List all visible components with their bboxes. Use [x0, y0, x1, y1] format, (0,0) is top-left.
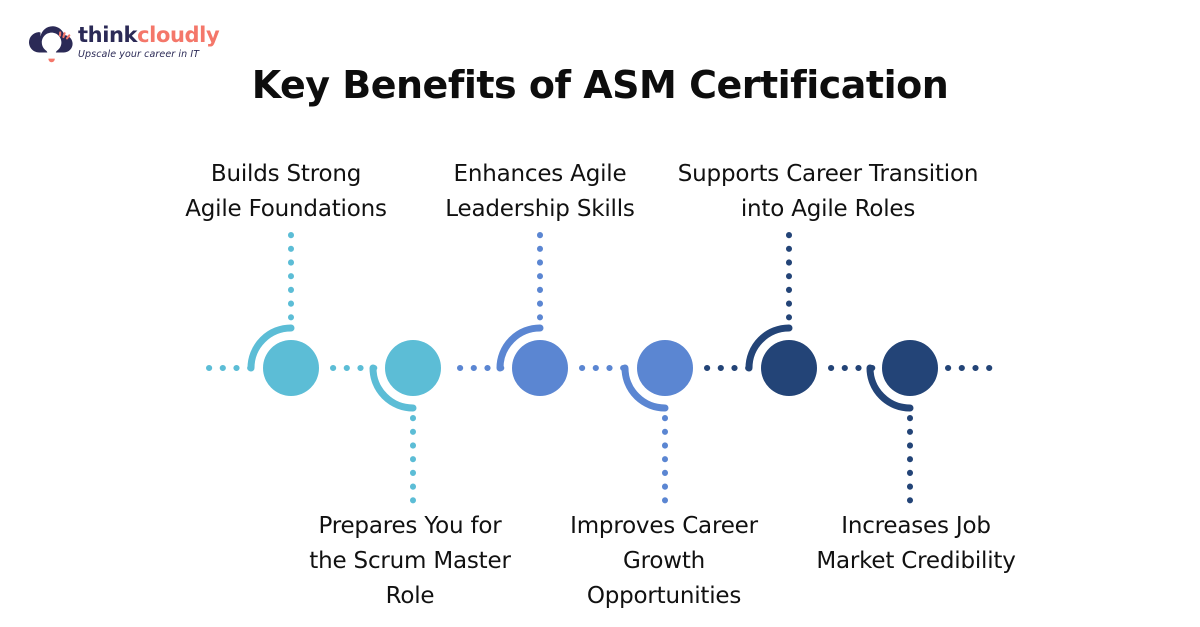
- milestone-node-1: [263, 340, 319, 396]
- milestone-label-4-line2: Growth: [540, 544, 788, 579]
- milestone-label-5: Supports Career Transition into Agile Ro…: [643, 157, 1013, 227]
- milestone-label-2-line1: Prepares You for: [285, 509, 535, 544]
- milestone-label-1-line2: Agile Foundations: [141, 192, 431, 227]
- milestone-label-6: Increases Job Market Credibility: [785, 509, 1047, 579]
- milestone-label-2: Prepares You for the Scrum Master Role: [285, 509, 535, 614]
- milestone-node-3: [512, 340, 568, 396]
- milestone-label-6-line1: Increases Job: [785, 509, 1047, 544]
- milestone-label-1: Builds Strong Agile Foundations: [141, 157, 431, 227]
- milestone-label-5-line2: into Agile Roles: [643, 192, 1013, 227]
- milestone-label-2-line3: Role: [285, 579, 535, 614]
- milestone-label-3-line1: Enhances Agile: [409, 157, 671, 192]
- milestone-label-4-line1: Improves Career: [540, 509, 788, 544]
- milestone-label-5-line1: Supports Career Transition: [643, 157, 1013, 192]
- milestone-label-6-line2: Market Credibility: [785, 544, 1047, 579]
- milestone-node-5: [761, 340, 817, 396]
- milestone-label-4-line3: Opportunities: [540, 579, 788, 614]
- milestone-node-6: [882, 340, 938, 396]
- milestone-node-4: [637, 340, 693, 396]
- milestone-label-3: Enhances Agile Leadership Skills: [409, 157, 671, 227]
- milestone-label-1-line1: Builds Strong: [141, 157, 431, 192]
- milestone-label-3-line2: Leadership Skills: [409, 192, 671, 227]
- milestone-label-4: Improves Career Growth Opportunities: [540, 509, 788, 614]
- milestone-label-2-line2: the Scrum Master: [285, 544, 535, 579]
- milestone-node-2: [385, 340, 441, 396]
